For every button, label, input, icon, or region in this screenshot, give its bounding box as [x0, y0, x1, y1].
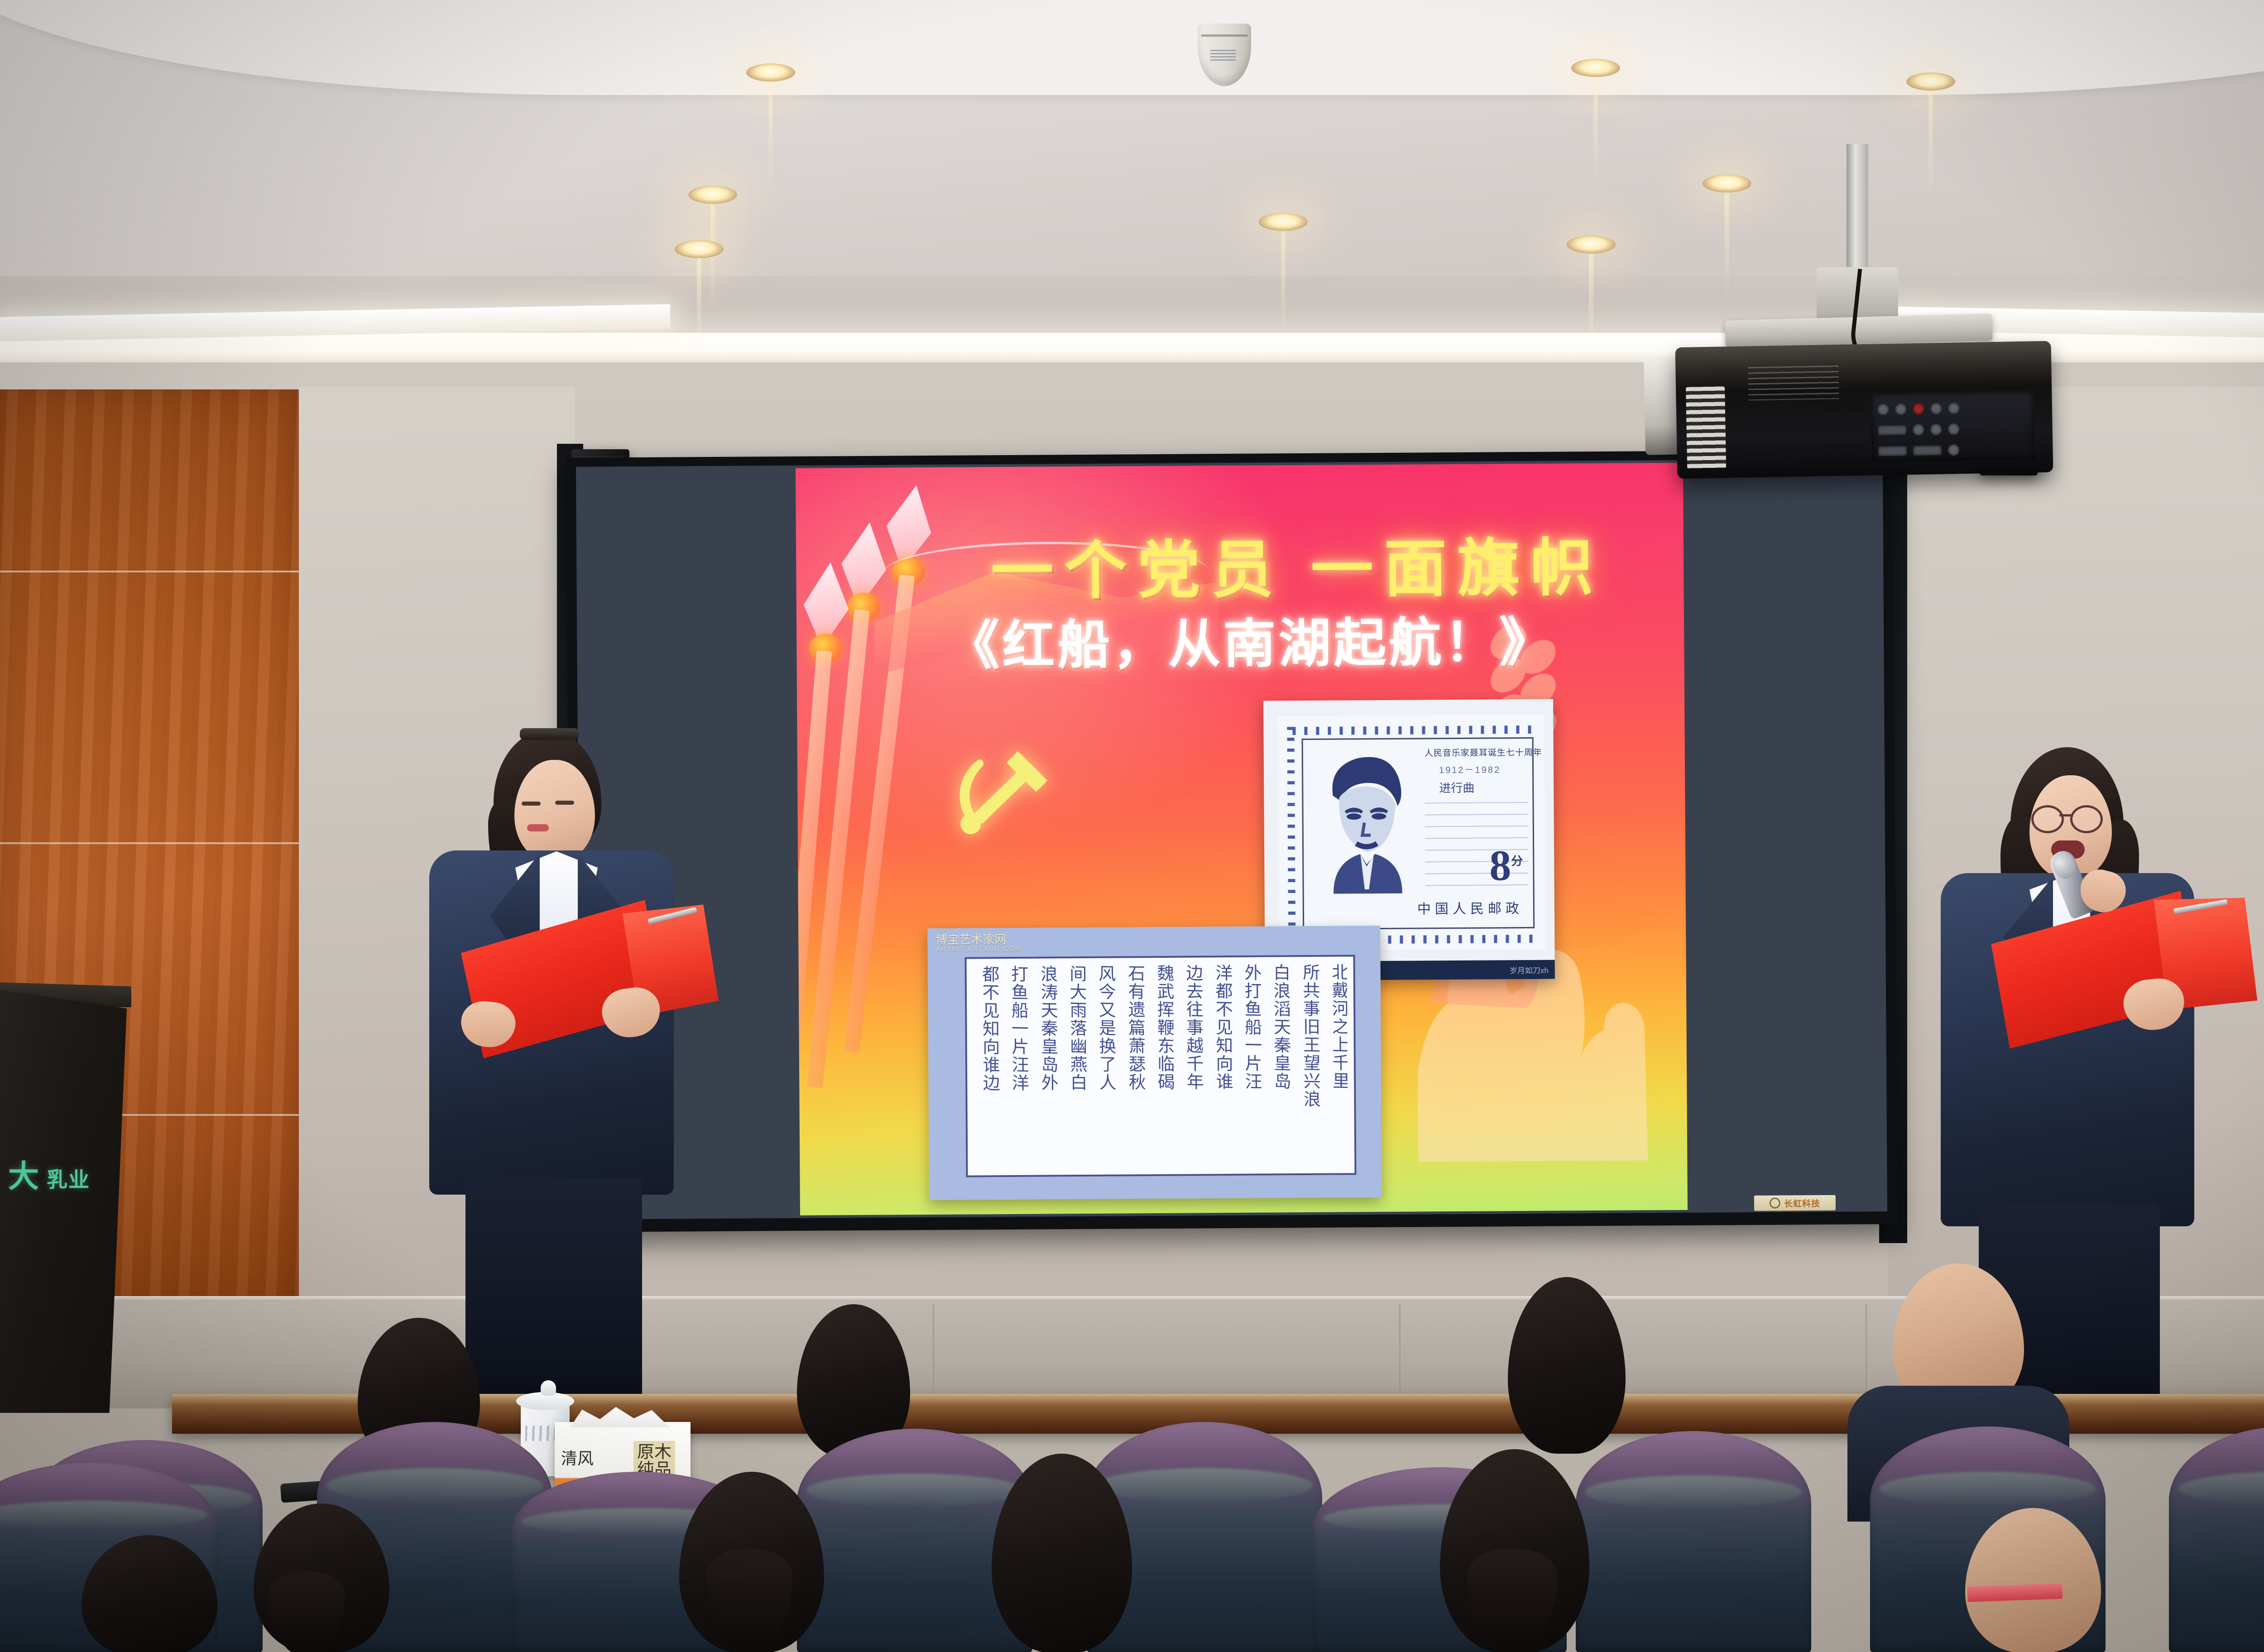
ceiling — [0, 0, 2264, 358]
calligraphy-column: 边去往事越千年 — [1177, 964, 1203, 1168]
teacup-knob — [541, 1380, 556, 1396]
wood-seam — [0, 571, 299, 572]
projector-hdmi-port — [1878, 446, 1907, 456]
projector-port-red — [1913, 403, 1924, 415]
calligraphy-column: 间大雨落幽燕白 — [1060, 965, 1086, 1169]
stamp-issuer: 中国人民邮政 — [1417, 897, 1523, 917]
calligraphy-image-card: 博宝艺术家网 ARTIST.ARTXUN.COM 北戴河之上千里所共事旧王望兴浪… — [927, 926, 1382, 1200]
calligraphy-watermark-line2: ARTIST.ARTXUN.COM — [935, 946, 1022, 953]
chair-band — [806, 1474, 1023, 1507]
chair-band — [2178, 1472, 2264, 1506]
stamp-caption: 人民音乐家聂耳诞生七十周年 — [1425, 746, 1529, 759]
audience-chair[interactable] — [1576, 1431, 1811, 1652]
screen-brand-label: 长虹科技 — [1784, 1197, 1820, 1209]
legs — [465, 1177, 642, 1408]
calligraphy-column: 白浪滔天秦皇岛 — [1264, 963, 1290, 1167]
audience-chair[interactable] — [2169, 1426, 2264, 1652]
calligraphy-column: 浪涛天秦皇岛外 — [1031, 965, 1057, 1169]
projector-port — [1877, 403, 1889, 415]
projector-port — [1948, 402, 1960, 414]
smoke-detector-label — [1210, 50, 1236, 62]
chair-band — [0, 1501, 207, 1529]
stamp-denomination: 8分 — [1489, 848, 1523, 884]
projector-port — [1930, 403, 1942, 414]
stamp-song-name: 进行曲 — [1439, 779, 1474, 796]
downlight-icon — [746, 63, 795, 82]
stamp-inner-frame: 人民音乐家聂耳诞生七十周年 1912－1982 进行曲 8分 中国人民邮政 — [1302, 737, 1535, 930]
projector-usb-port — [1913, 445, 1942, 456]
wood-seam — [0, 842, 299, 844]
tissue-box-brand: 清风 — [561, 1445, 594, 1469]
hair-clip — [520, 728, 579, 740]
mouth — [527, 824, 549, 831]
dais-seam — [1866, 1304, 1867, 1402]
projector-mount-rod — [1847, 144, 1868, 280]
glasses-lens-right — [2070, 805, 2103, 833]
nie-er-portrait-icon — [1314, 745, 1419, 895]
calligraphy-column: 洋都不见知向谁 — [1206, 964, 1232, 1168]
hammer-and-sickle-emblem-icon — [943, 733, 1057, 847]
auditorium-scene: 一个党员 一面旗帜 《红船，从南湖起航！》 — [0, 0, 2264, 1652]
projector-vent — [1686, 386, 1726, 468]
downlight-icon — [1567, 235, 1616, 254]
projector-port — [1948, 423, 1960, 435]
dais-seam — [1399, 1304, 1401, 1402]
downlight-icon — [1259, 213, 1308, 231]
stamp-years: 1912－1982 — [1439, 762, 1501, 776]
projector-port — [1947, 444, 1959, 456]
chair-band — [1880, 1472, 2096, 1506]
glasses-lens-left — [2031, 805, 2064, 833]
calligraphy-watermark: 博宝艺术家网 ARTIST.ARTXUN.COM — [935, 933, 1022, 953]
projector-port — [1930, 423, 1942, 435]
calligraphy-column: 石有遗篇萧瑟秋 — [1118, 964, 1144, 1168]
projector-spec-label — [1748, 365, 1839, 400]
downlight-icon — [1571, 59, 1620, 77]
projector-port — [1913, 424, 1924, 436]
eye-left — [522, 802, 541, 806]
stamp-denomination-number: 8 — [1489, 841, 1511, 890]
brand-logo-icon — [1770, 1198, 1780, 1209]
lectern-logo-sub: 乳业 — [47, 1168, 90, 1191]
downlight-icon — [675, 240, 724, 258]
ceiling-mounted-projector — [1675, 341, 2053, 479]
lectern — [0, 987, 127, 1413]
chair-band — [1096, 1468, 1313, 1503]
downlight-icon — [1703, 174, 1751, 192]
projection-screen[interactable]: 一个党员 一面旗帜 《红船，从南湖起航！》 — [566, 450, 1897, 1232]
head — [514, 760, 595, 862]
downlight-icon — [1906, 72, 1955, 91]
projector-vga-port — [1878, 425, 1907, 435]
chair-band — [326, 1468, 543, 1503]
lectern-logo: 大 乳业 — [8, 1159, 117, 1194]
glasses-bridge — [2059, 814, 2071, 816]
dais-seam — [933, 1304, 934, 1402]
calligraphy-column: 魏武挥鞭东临碣 — [1148, 964, 1174, 1168]
calligraphy-column: 风今又是换了人 — [1089, 964, 1115, 1168]
calligraphy-columns: 北戴河之上千里所共事旧王望兴浪白浪滔天秦皇岛外打鱼船一片汪洋都不见知向谁边去往事… — [973, 963, 1348, 1169]
screen-brand-plate: 长虹科技 — [1754, 1195, 1836, 1211]
projection-screen-surface: 一个党员 一面旗帜 《红船，从南湖起航！》 — [576, 459, 1887, 1220]
calligraphy-watermark-line1: 博宝艺术家网 — [935, 932, 1006, 946]
calligraphy-column: 打鱼船一片汪洋 — [1002, 965, 1028, 1169]
downlight-icon — [688, 186, 737, 204]
calligraphy-sheet: 北戴河之上千里所共事旧王望兴浪白浪滔天秦皇岛外打鱼船一片汪洋都不见知向谁边去往事… — [965, 955, 1357, 1177]
projector-port-panel — [1871, 391, 2035, 461]
slide-title: 一个党员 一面旗帜 — [991, 516, 1670, 611]
presentation-slide: 一个党员 一面旗帜 《红船，从南湖起航！》 — [796, 463, 1688, 1215]
slide-subtitle: 《红船，从南湖起航！》 — [947, 599, 1672, 679]
eye-right — [555, 801, 574, 805]
calligraphy-column: 外打鱼船一片汪 — [1235, 963, 1261, 1167]
stamp-perforation-top — [1292, 725, 1534, 735]
calligraphy-column: 北戴河之上千里 — [1323, 963, 1348, 1167]
lectern-logo-main: 大 — [8, 1159, 39, 1194]
glasses-icon — [2031, 805, 2099, 830]
postage-stamp: 人民音乐家聂耳诞生七十周年 1912－1982 进行曲 8分 中国人民邮政 J.… — [1278, 715, 1545, 951]
calligraphy-column: 所共事旧王望兴浪 — [1293, 963, 1319, 1167]
chair-band — [1585, 1475, 1802, 1509]
calligraphy-column: 都不见知向谁边 — [973, 965, 999, 1169]
stamp-denomination-unit: 分 — [1511, 855, 1523, 868]
stamp-perforation-left — [1287, 727, 1295, 944]
projector-port — [1895, 403, 1907, 415]
